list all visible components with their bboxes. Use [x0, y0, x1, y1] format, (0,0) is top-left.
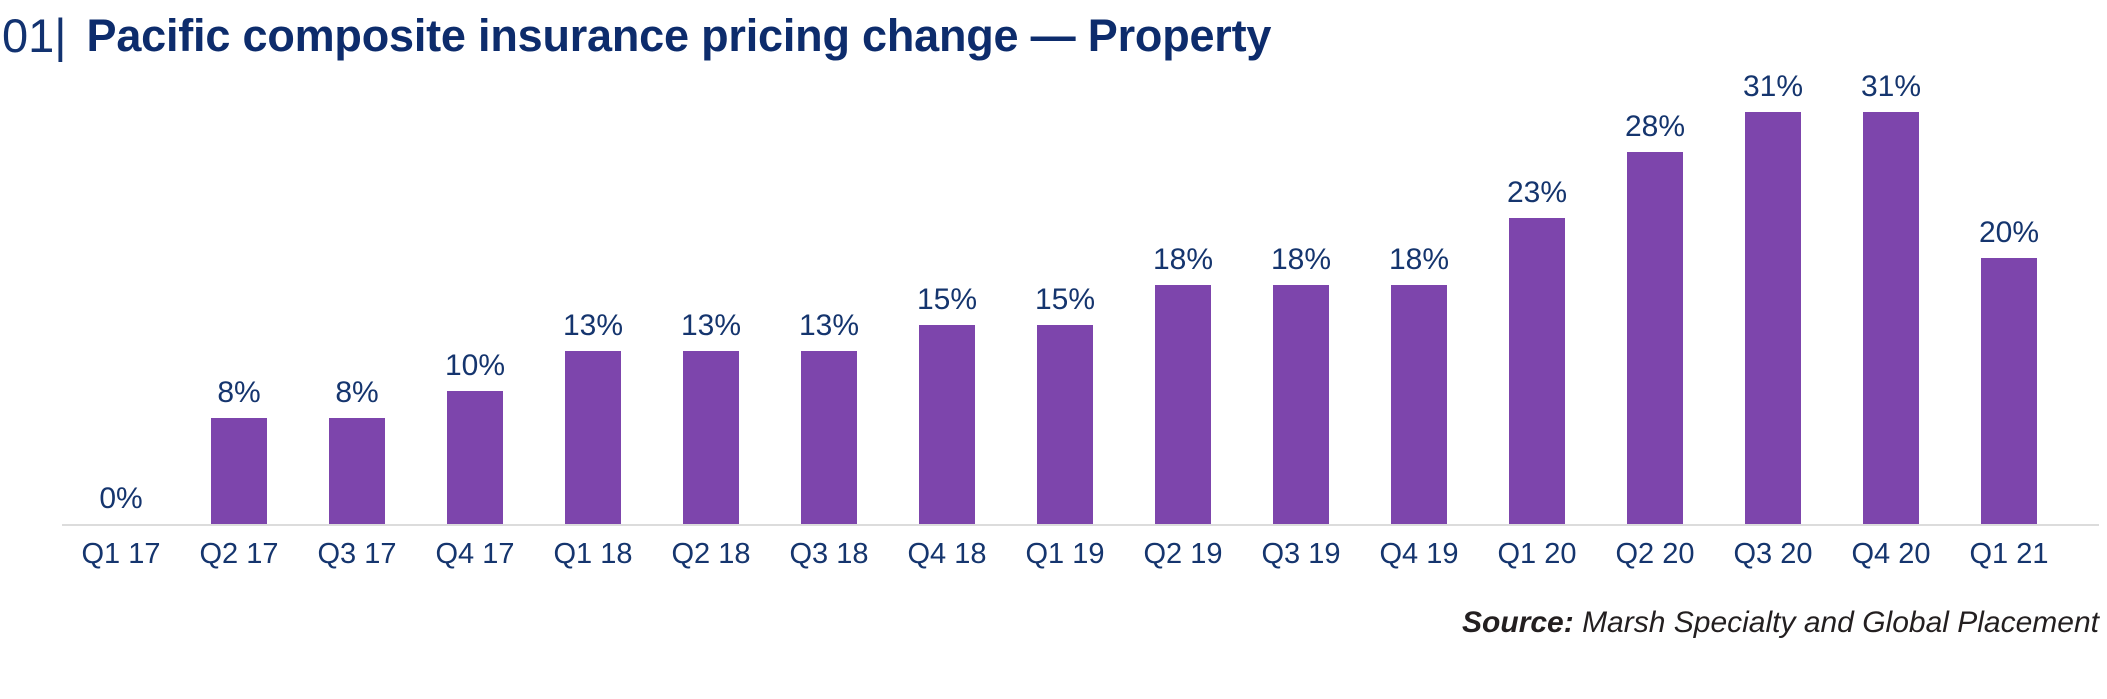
x-tick-label: Q2 19: [1124, 540, 1242, 569]
bar-value-label: 18%: [1242, 245, 1360, 275]
bar[interactable]: [211, 418, 267, 524]
bar-value-label: 18%: [1360, 245, 1478, 275]
bar-slot: 28%: [1596, 66, 1714, 524]
x-tick-label: Q4 17: [416, 540, 534, 569]
bar-slot: 13%: [652, 66, 770, 524]
bar-value-label: 18%: [1124, 245, 1242, 275]
bar-value-label: 31%: [1832, 72, 1950, 102]
bar-slot: 23%: [1478, 66, 1596, 524]
bar[interactable]: [801, 351, 857, 524]
bar-value-label: 10%: [416, 351, 534, 381]
bar-slot: 8%: [298, 66, 416, 524]
bar[interactable]: [447, 391, 503, 524]
bar-value-label: 23%: [1478, 178, 1596, 208]
source-note: Source: Marsh Specialty and Global Place…: [1462, 608, 2099, 638]
page-title: 01| Pacific composite insurance pricing …: [0, 4, 1271, 66]
bar-chart: 0%8%8%10%13%13%13%15%15%18%18%18%23%28%3…: [0, 66, 2107, 606]
bar-value-label: 13%: [770, 311, 888, 341]
bar-value-label: 13%: [652, 311, 770, 341]
bar[interactable]: [919, 325, 975, 524]
bar[interactable]: [329, 418, 385, 524]
x-tick-label: Q3 18: [770, 540, 888, 569]
bar-slot: 13%: [534, 66, 652, 524]
axis-baseline: [62, 524, 2099, 526]
chart-page: 01| Pacific composite insurance pricing …: [0, 0, 2107, 699]
bar[interactable]: [1863, 112, 1919, 524]
bar-value-label: 31%: [1714, 72, 1832, 102]
bars-container: 0%8%8%10%13%13%13%15%15%18%18%18%23%28%3…: [62, 66, 2099, 524]
bar-value-label: 8%: [298, 378, 416, 408]
bar-value-label: 8%: [180, 378, 298, 408]
x-tick-label: Q1 17: [62, 540, 180, 569]
bar-slot: 8%: [180, 66, 298, 524]
bar-slot: 18%: [1242, 66, 1360, 524]
bar[interactable]: [1509, 218, 1565, 524]
title-index: 01|: [0, 12, 67, 59]
x-tick-label: Q3 20: [1714, 540, 1832, 569]
bar-slot: 0%: [62, 66, 180, 524]
bar-value-label: 0%: [62, 484, 180, 514]
title-text: Pacific composite insurance pricing chan…: [87, 13, 1272, 58]
bar-value-label: 15%: [1006, 285, 1124, 315]
bar-value-label: 13%: [534, 311, 652, 341]
bar-value-label: 20%: [1950, 218, 2068, 248]
bar-slot: 10%: [416, 66, 534, 524]
bar[interactable]: [565, 351, 621, 524]
x-tick-label: Q3 19: [1242, 540, 1360, 569]
bar-value-label: 15%: [888, 285, 1006, 315]
bar-slot: 15%: [888, 66, 1006, 524]
x-tick-label: Q2 17: [180, 540, 298, 569]
x-tick-label: Q2 20: [1596, 540, 1714, 569]
x-tick-label: Q4 19: [1360, 540, 1478, 569]
bar-slot: 15%: [1006, 66, 1124, 524]
bar-slot: 31%: [1714, 66, 1832, 524]
x-tick-label: Q1 21: [1950, 540, 2068, 569]
bar[interactable]: [1273, 285, 1329, 524]
x-tick-label: Q4 20: [1832, 540, 1950, 569]
bar[interactable]: [1391, 285, 1447, 524]
bar[interactable]: [683, 351, 739, 524]
x-tick-label: Q3 17: [298, 540, 416, 569]
bar[interactable]: [1627, 152, 1683, 524]
bar-slot: 31%: [1832, 66, 1950, 524]
x-tick-label: Q1 19: [1006, 540, 1124, 569]
bar[interactable]: [1745, 112, 1801, 524]
x-tick-label: Q1 20: [1478, 540, 1596, 569]
bar-value-label: 28%: [1596, 112, 1714, 142]
x-tick-label: Q1 18: [534, 540, 652, 569]
bar-slot: 18%: [1360, 66, 1478, 524]
bar-slot: 13%: [770, 66, 888, 524]
bar[interactable]: [1037, 325, 1093, 524]
source-value: Marsh Specialty and Global Placement: [1574, 606, 2099, 639]
bar[interactable]: [1981, 258, 2037, 524]
bar[interactable]: [1155, 285, 1211, 524]
source-label: Source:: [1462, 606, 1574, 639]
bar-slot: 18%: [1124, 66, 1242, 524]
x-tick-label: Q2 18: [652, 540, 770, 569]
bar-slot: 20%: [1950, 66, 2068, 524]
x-tick-label: Q4 18: [888, 540, 1006, 569]
